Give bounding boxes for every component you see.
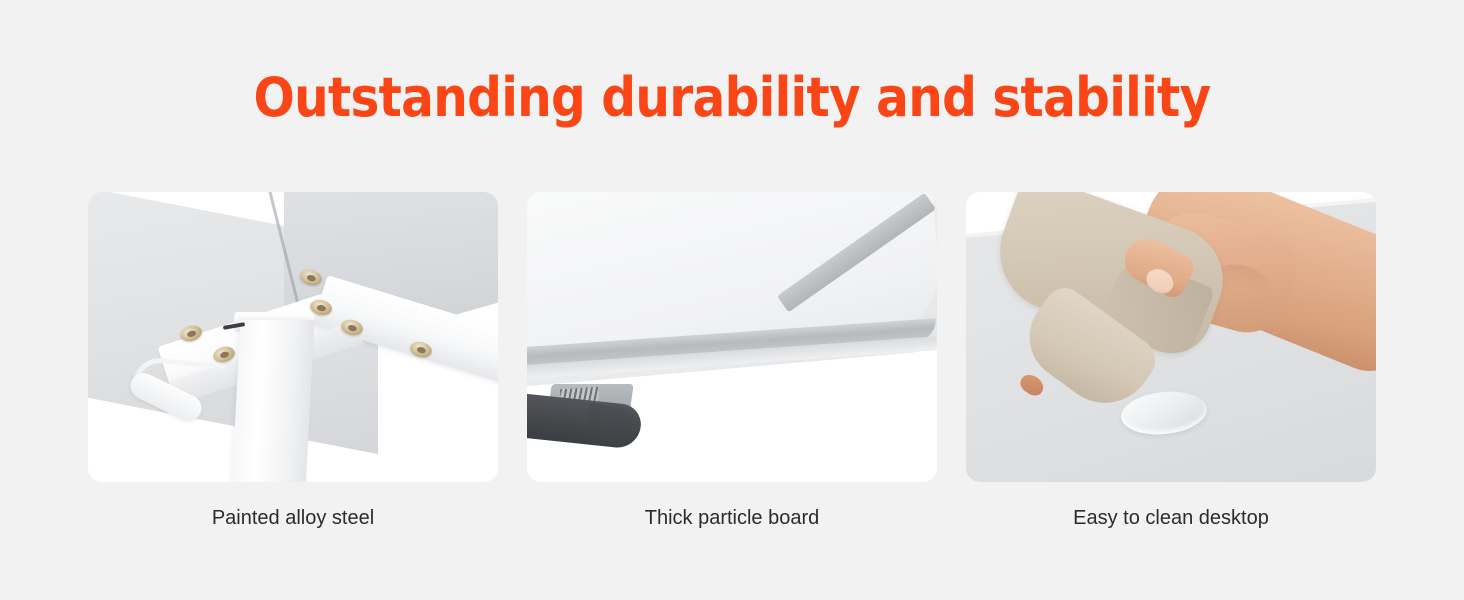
photo-thick-particle-board	[527, 192, 937, 482]
feature-item-thick-particle-board: Thick particle board	[527, 192, 937, 482]
feature-panel-row: Painted alloy steel Thick particle board	[88, 192, 1376, 482]
feature-item-painted-alloy-steel: Painted alloy steel	[88, 192, 498, 482]
photo-painted-alloy-steel	[88, 192, 498, 482]
page-title: Outstanding durability and stability	[73, 68, 1391, 128]
feature-caption-painted-alloy-steel: Painted alloy steel	[88, 504, 498, 532]
leg-column	[231, 320, 314, 482]
photo-easy-to-clean-desktop	[966, 192, 1376, 482]
feature-banner: Outstanding durability and stability	[0, 0, 1464, 600]
feature-caption-thick-particle-board: Thick particle board	[527, 504, 937, 532]
feature-item-easy-to-clean-desktop: Easy to clean desktop	[966, 192, 1376, 482]
feature-caption-easy-to-clean-desktop: Easy to clean desktop	[966, 504, 1376, 532]
